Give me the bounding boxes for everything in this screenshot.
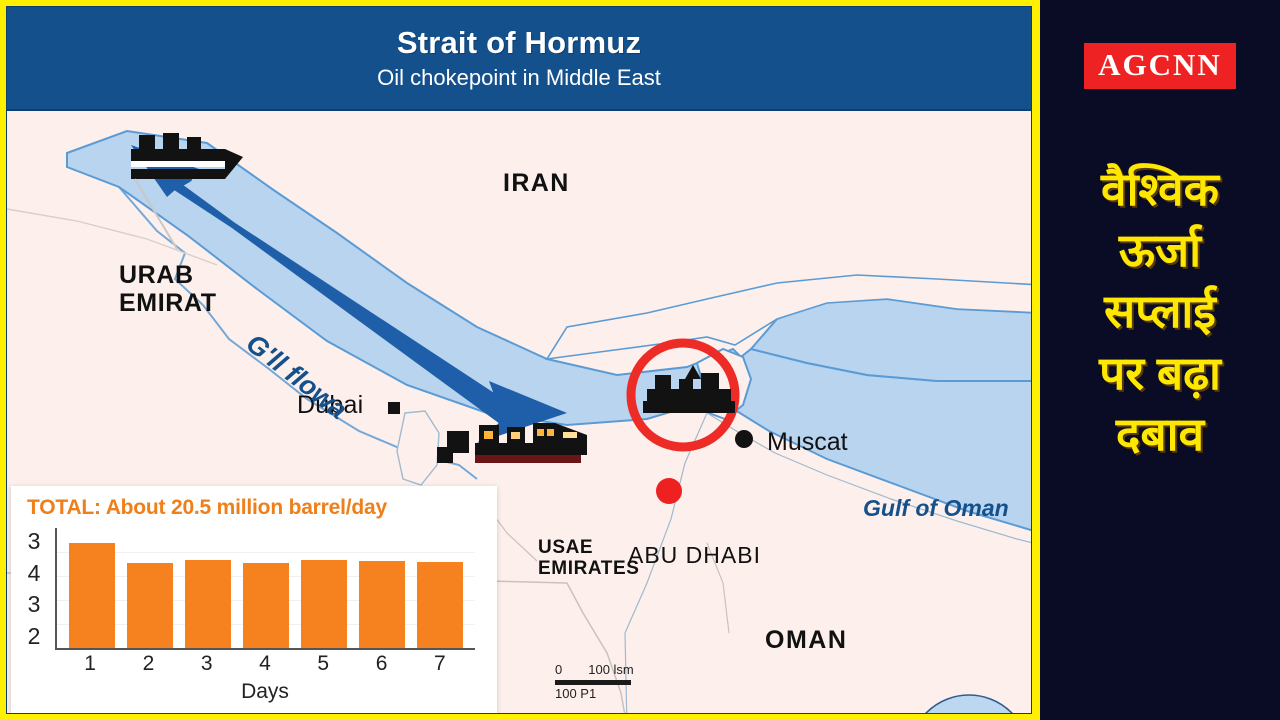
globe-inset [905, 691, 1031, 714]
page-title: Strait of Hormuz [397, 26, 641, 60]
news-headline: वैश्विकऊर्जासप्लाईपर बढ़ादबाव [1040, 159, 1280, 465]
map-marker-flag [437, 447, 453, 463]
chart-bar [185, 560, 231, 648]
infographic-panel: Strait of Hormuz Oil chokepoint in Middl… [0, 0, 1040, 720]
map-label-iran: IRAN [503, 169, 570, 197]
chart-x-axis-label: Days [55, 680, 475, 704]
map-label-muscat: Muscat [767, 428, 848, 456]
chart-x-tick: 6 [359, 652, 405, 676]
chart-bar [243, 563, 289, 648]
scale-bar-rule [555, 680, 631, 685]
chart-x-axis: 1234567 [55, 652, 475, 676]
chart-x-tick: 5 [300, 652, 346, 676]
news-headline-line: दबाव [1040, 404, 1280, 465]
chart-y-axis: 3 4 3 2 [17, 528, 51, 650]
news-headline-line: पर बढ़ा [1040, 343, 1280, 404]
chart-bar [127, 563, 173, 648]
scale-bar-distance: 100 lsm [588, 662, 634, 677]
y-tick: 3 [28, 591, 41, 618]
chart-x-tick: 7 [417, 652, 463, 676]
news-headline-line: सप्लाई [1040, 281, 1280, 342]
muscat-city-dot [735, 430, 753, 448]
y-tick: 3 [28, 528, 41, 555]
map-label-uae: URAB EMIRAT [119, 261, 217, 317]
red-dot-marker [656, 478, 682, 504]
scale-bar-zero: 0 [555, 662, 562, 677]
map-label-gulf-of-oman: Gulf of Oman [863, 496, 1009, 522]
scale-bar-sublabel: 100 P1 [555, 686, 634, 701]
chart-x-tick: 1 [67, 652, 113, 676]
screenshot-root: Strait of Hormuz Oil chokepoint in Middl… [0, 0, 1280, 720]
chart-x-tick: 3 [184, 652, 230, 676]
chart-x-tick: 2 [125, 652, 171, 676]
chart-bar [417, 562, 463, 648]
chart-inset: TOTAL: About 20.5 million barrel/day 3 4… [11, 486, 497, 714]
page-subtitle: Oil chokepoint in Middle East [377, 66, 661, 90]
map-label-oman: OMAN [765, 626, 847, 654]
y-tick: 4 [28, 560, 41, 587]
dubai-city-dot [388, 402, 400, 414]
map-label-usae-emirates: USAE EMIRATES [538, 537, 640, 580]
chart-x-tick: 4 [242, 652, 288, 676]
chart-bars-container [55, 528, 475, 650]
chart-bar [359, 561, 405, 648]
chart-bars [57, 528, 475, 648]
infographic-header: Strait of Hormuz Oil chokepoint in Middl… [7, 7, 1031, 111]
y-tick: 2 [28, 623, 41, 650]
chart-bar [301, 560, 347, 648]
news-rail: AGCNN वैश्विकऊर्जासप्लाईपर बढ़ादबाव [1040, 0, 1280, 720]
map-label-abu-dhabi: ABU DHABI [628, 543, 761, 569]
channel-logo-text: AGCNN [1098, 47, 1222, 82]
channel-logo: AGCNN [1084, 43, 1236, 89]
chart-plot-area: 3 4 3 2 1234567 Days [11, 528, 497, 678]
map-scale-bar: 0 100 lsm 100 P1 [555, 662, 634, 701]
news-headline-line: वैश्विक [1040, 159, 1280, 220]
map-canvas: IRAN URAB EMIRAT Dubai Muscat USAE EMIRA… [7, 113, 1031, 714]
news-headline-line: ऊर्जा [1040, 220, 1280, 281]
chart-bar [69, 543, 115, 648]
chart-title: TOTAL: About 20.5 million barrel/day [11, 486, 497, 520]
infographic-frame: Strait of Hormuz Oil chokepoint in Middl… [6, 6, 1032, 714]
